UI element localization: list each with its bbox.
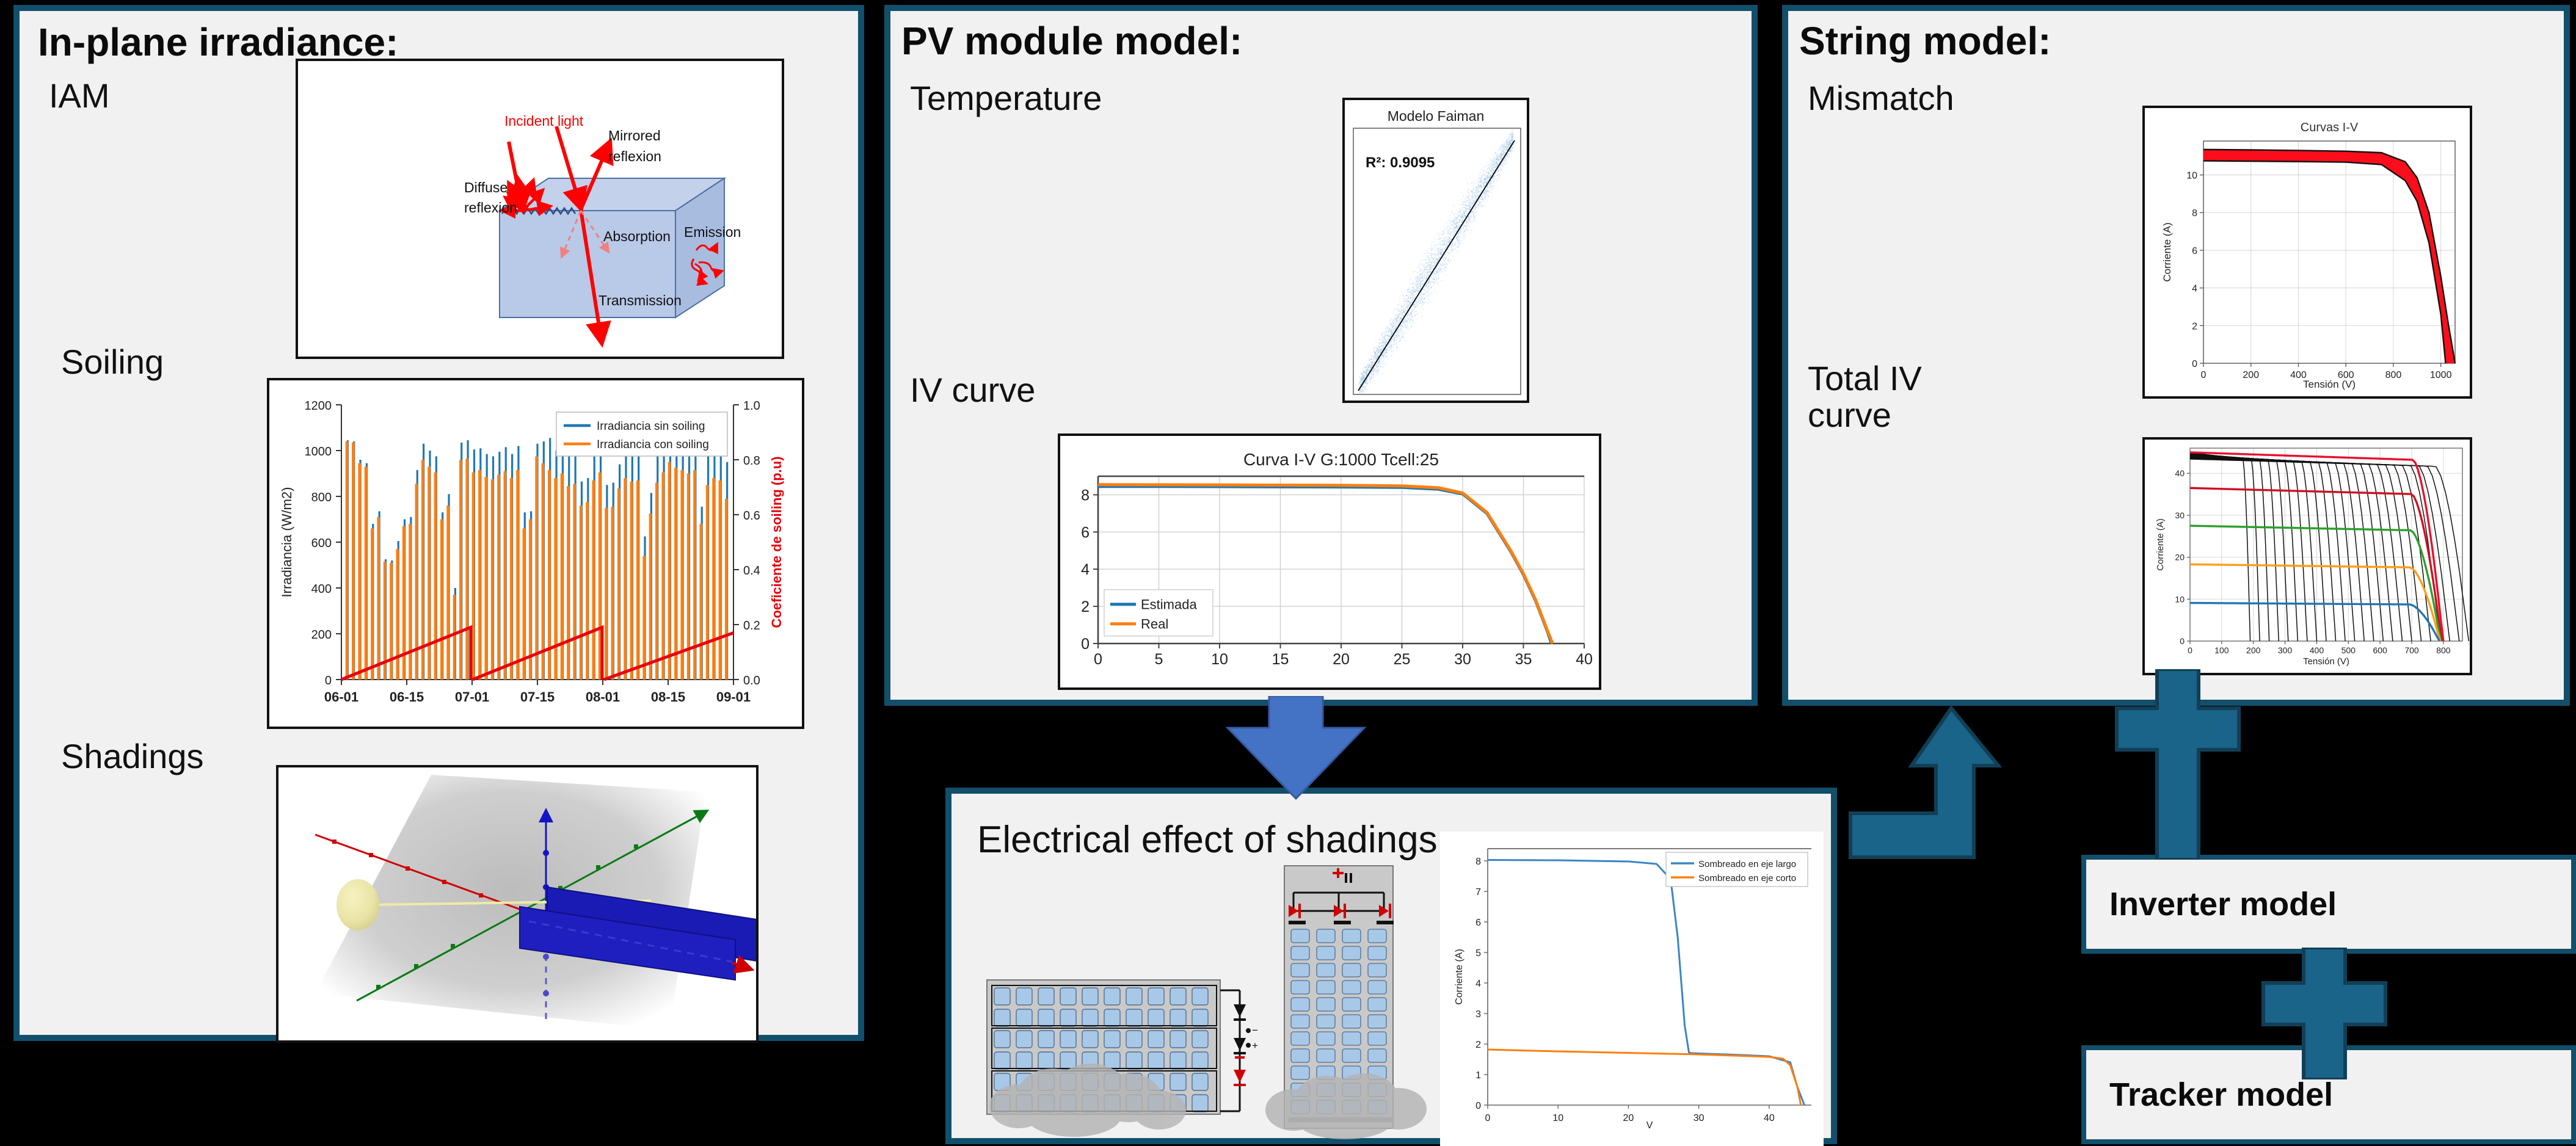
panel-pv-module-model: PV module model: Temperature IV curve Mo… xyxy=(884,5,1758,706)
label-iam: IAM xyxy=(49,76,110,115)
label-shadings: Shadings xyxy=(61,736,204,776)
label-total-iv-line2: curve xyxy=(1808,397,1922,433)
svg-text:Coeficiente de soiling (p.u): Coeficiente de soiling (p.u) xyxy=(769,456,784,628)
box-inverter-model: Inverter model xyxy=(2081,855,2576,954)
label-mismatch: Mismatch xyxy=(1808,78,1954,118)
svg-text:0.4: 0.4 xyxy=(743,564,760,578)
svg-text:07-15: 07-15 xyxy=(520,689,555,705)
svg-text:06-01: 06-01 xyxy=(324,689,358,705)
iam-label-emission: Emission xyxy=(684,224,741,240)
tracker-model-label: Tracker model xyxy=(2086,1076,2333,1114)
svg-text:1.0: 1.0 xyxy=(743,399,760,413)
svg-text:1000: 1000 xyxy=(305,445,332,459)
iam-label-transmission: Transmission xyxy=(599,292,682,308)
svg-text:600: 600 xyxy=(311,537,332,550)
inverter-model-label: Inverter model xyxy=(2086,885,2337,923)
arrow-bent-shadings-to-string xyxy=(1838,697,2021,880)
svg-text:Irradiancia con soiling: Irradiancia con soiling xyxy=(597,438,709,451)
total-iv-curves-figure: 0100200300400500600700800010203040Tensió… xyxy=(2142,437,2472,675)
iam-label-diffuse-2: reflexion xyxy=(464,200,517,216)
label-temperature: Temperature xyxy=(910,78,1102,118)
svg-text:0.6: 0.6 xyxy=(743,509,760,523)
svg-text:200: 200 xyxy=(311,628,332,642)
plus-string-to-inverter xyxy=(2113,669,2243,860)
label-soiling: Soiling xyxy=(61,342,164,382)
panel-in-plane-irradiance: In-plane irradiance: IAM Soiling Shading… xyxy=(13,5,864,1041)
iam-label-mirrored-2: reflexion xyxy=(608,148,661,164)
svg-text:400: 400 xyxy=(311,582,332,596)
panel-string-model: String model: Mismatch Total IV curve Cu… xyxy=(1782,5,2570,706)
shading-iv-curve-figure: 010203040012345678VCorriente (A)Sombread… xyxy=(1440,832,1824,1146)
svg-text:1200: 1200 xyxy=(305,399,332,413)
iam-label-mirrored-1: Mirrored xyxy=(608,128,661,143)
panel-electrical-effect-shadings: Electrical effect of shadings xyxy=(945,788,1837,1144)
iam-label-incident: Incident light xyxy=(504,113,584,129)
svg-text:800: 800 xyxy=(311,491,332,504)
svg-text:08-01: 08-01 xyxy=(586,689,620,705)
module-circuit-diagrams: − + xyxy=(976,855,1471,1142)
svg-text:0.0: 0.0 xyxy=(743,674,760,687)
faiman-scatter-figure: Modelo FaimanR²: 0.9095 xyxy=(1342,98,1529,403)
panel-title-string: String model: xyxy=(1799,18,2051,63)
svg-text:06-15: 06-15 xyxy=(390,689,424,705)
svg-text:08-15: 08-15 xyxy=(651,689,685,705)
svg-text:07-01: 07-01 xyxy=(455,689,489,705)
svg-text:0.2: 0.2 xyxy=(743,619,760,633)
string-iv-curves-figure: Curvas I-V020040060080010000246810Tensió… xyxy=(2142,106,2472,399)
svg-text:Irradiancia sin soiling: Irradiancia sin soiling xyxy=(597,420,705,433)
svg-text:09-01: 09-01 xyxy=(716,689,751,705)
label-total-iv-curve: Total IV curve xyxy=(1808,360,1922,434)
iam-optics-figure: Incident light Mirrored reflexion Diffus… xyxy=(296,59,784,359)
svg-text:0.8: 0.8 xyxy=(743,454,760,468)
shadings-3d-figure xyxy=(276,765,759,1043)
svg-text:0: 0 xyxy=(325,674,332,687)
label-iv-curve: IV curve xyxy=(910,370,1035,410)
panel-title-pv-module: PV module model: xyxy=(901,18,1242,63)
arrow-down-pv-to-shadings xyxy=(1213,696,1379,801)
module-iv-curve-figure: Curva I-V G:1000 Tcell:25051015202530354… xyxy=(1058,433,1601,690)
iam-label-diffuse-1: Diffuse xyxy=(464,180,508,195)
label-total-iv-line1: Total IV xyxy=(1808,360,1922,397)
panel-title-irradiance: In-plane irradiance: xyxy=(38,20,398,65)
svg-text:Modelo Faiman: Modelo Faiman xyxy=(1388,108,1485,124)
plus-inverter-to-tracker xyxy=(2260,948,2389,1079)
soiling-chart-figure: 0200400600800100012000.00.20.40.60.81.00… xyxy=(267,378,804,729)
iam-label-absorption: Absorption xyxy=(603,228,671,244)
svg-text:Irradiancia (W/m2): Irradiancia (W/m2) xyxy=(279,487,294,598)
